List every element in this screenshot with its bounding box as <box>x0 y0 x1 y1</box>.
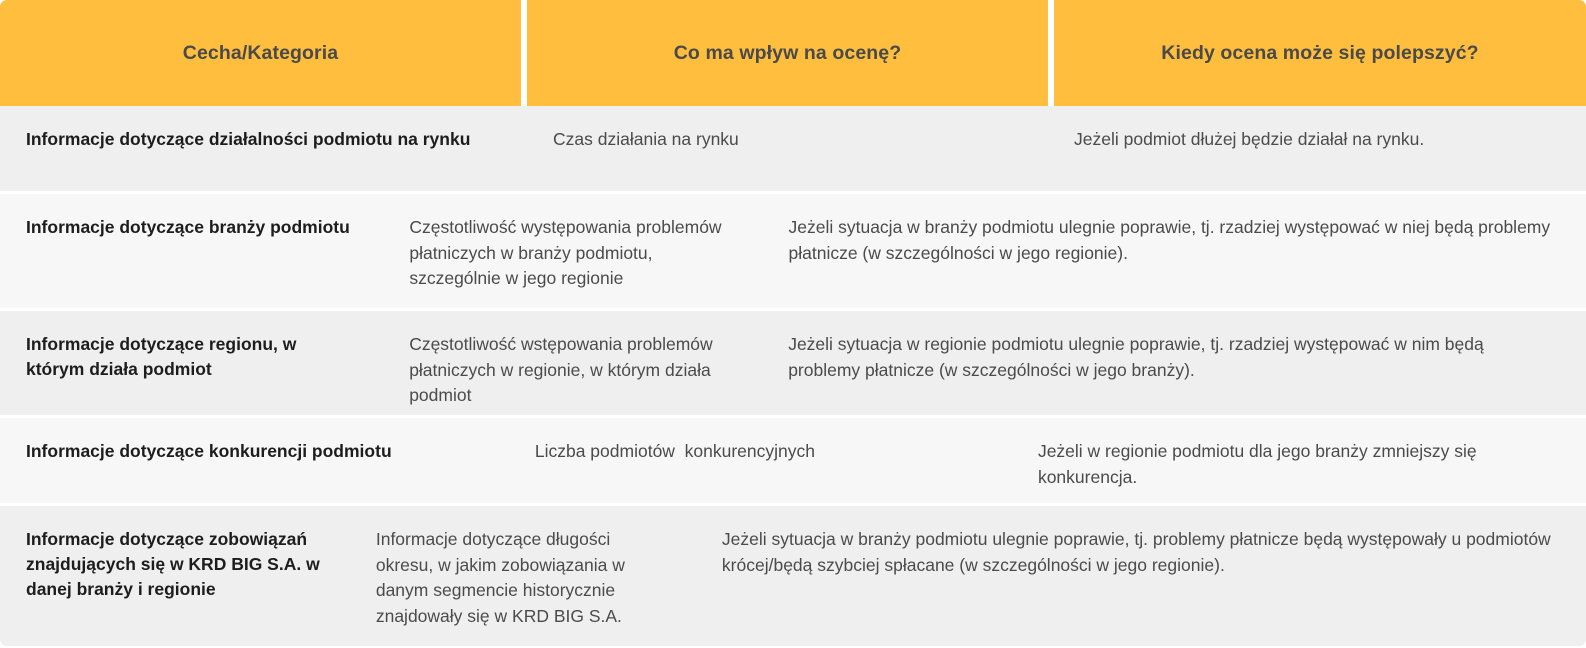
column-header-influence: Co ma wpływ na ocenę? <box>527 0 1048 106</box>
column-header-category: Cecha/Kategoria <box>0 0 521 106</box>
cell-category: Informacje dotyczące zobowiązań znajdują… <box>0 506 350 646</box>
column-header-improvement-label: Kiedy ocena może się polepszyć? <box>1161 41 1478 65</box>
column-header-influence-label: Co ma wpływ na ocenę? <box>674 41 901 65</box>
cell-improvement: Jeżeli sytuacja w branży podmiotu ulegni… <box>696 506 1586 646</box>
column-header-improvement: Kiedy ocena może się polepszyć? <box>1054 0 1586 106</box>
column-header-category-label: Cecha/Kategoria <box>183 41 338 65</box>
cell-improvement: Jeżeli sytuacja w branży podmiotu ulegni… <box>763 194 1586 308</box>
cell-improvement: Jeżeli w regionie podmiotu dla jego bran… <box>1012 418 1586 503</box>
scoring-criteria-table: Cecha/Kategoria Co ma wpływ na ocenę? Ki… <box>0 0 1586 648</box>
table-row: Informacje dotyczące działalności podmio… <box>0 106 1586 194</box>
cell-improvement: Jeżeli podmiot dłużej będzie działał na … <box>1048 106 1586 191</box>
cell-influence: Informacje dotyczące długości okresu, w … <box>350 506 696 646</box>
cell-category: Informacje dotyczące branży podmiotu <box>0 194 383 308</box>
cell-category: Informacje dotyczące regionu, w którym d… <box>0 311 383 415</box>
cell-influence: Czas działania na rynku <box>527 106 1048 191</box>
table-row: Informacje dotyczące regionu, w którym d… <box>0 311 1586 418</box>
cell-influence: Częstotliwość występowania problemów pła… <box>383 194 762 308</box>
table-body: Informacje dotyczące działalności podmio… <box>0 106 1586 646</box>
table-row: Informacje dotyczące branży podmiotu Czę… <box>0 194 1586 311</box>
table-row: Informacje dotyczące konkurencji podmiot… <box>0 418 1586 506</box>
cell-category: Informacje dotyczące konkurencji podmiot… <box>0 418 509 503</box>
cell-improvement: Jeżeli sytuacja w regionie podmiotu uleg… <box>762 311 1586 415</box>
table-header-row: Cecha/Kategoria Co ma wpływ na ocenę? Ki… <box>0 0 1586 106</box>
table-row: Informacje dotyczące zobowiązań znajdują… <box>0 506 1586 646</box>
cell-category: Informacje dotyczące działalności podmio… <box>0 106 527 191</box>
cell-influence: Liczba podmiotów konkurencyjnych <box>509 418 1012 503</box>
cell-influence: Częstotliwość wstępowania problemów płat… <box>383 311 762 415</box>
